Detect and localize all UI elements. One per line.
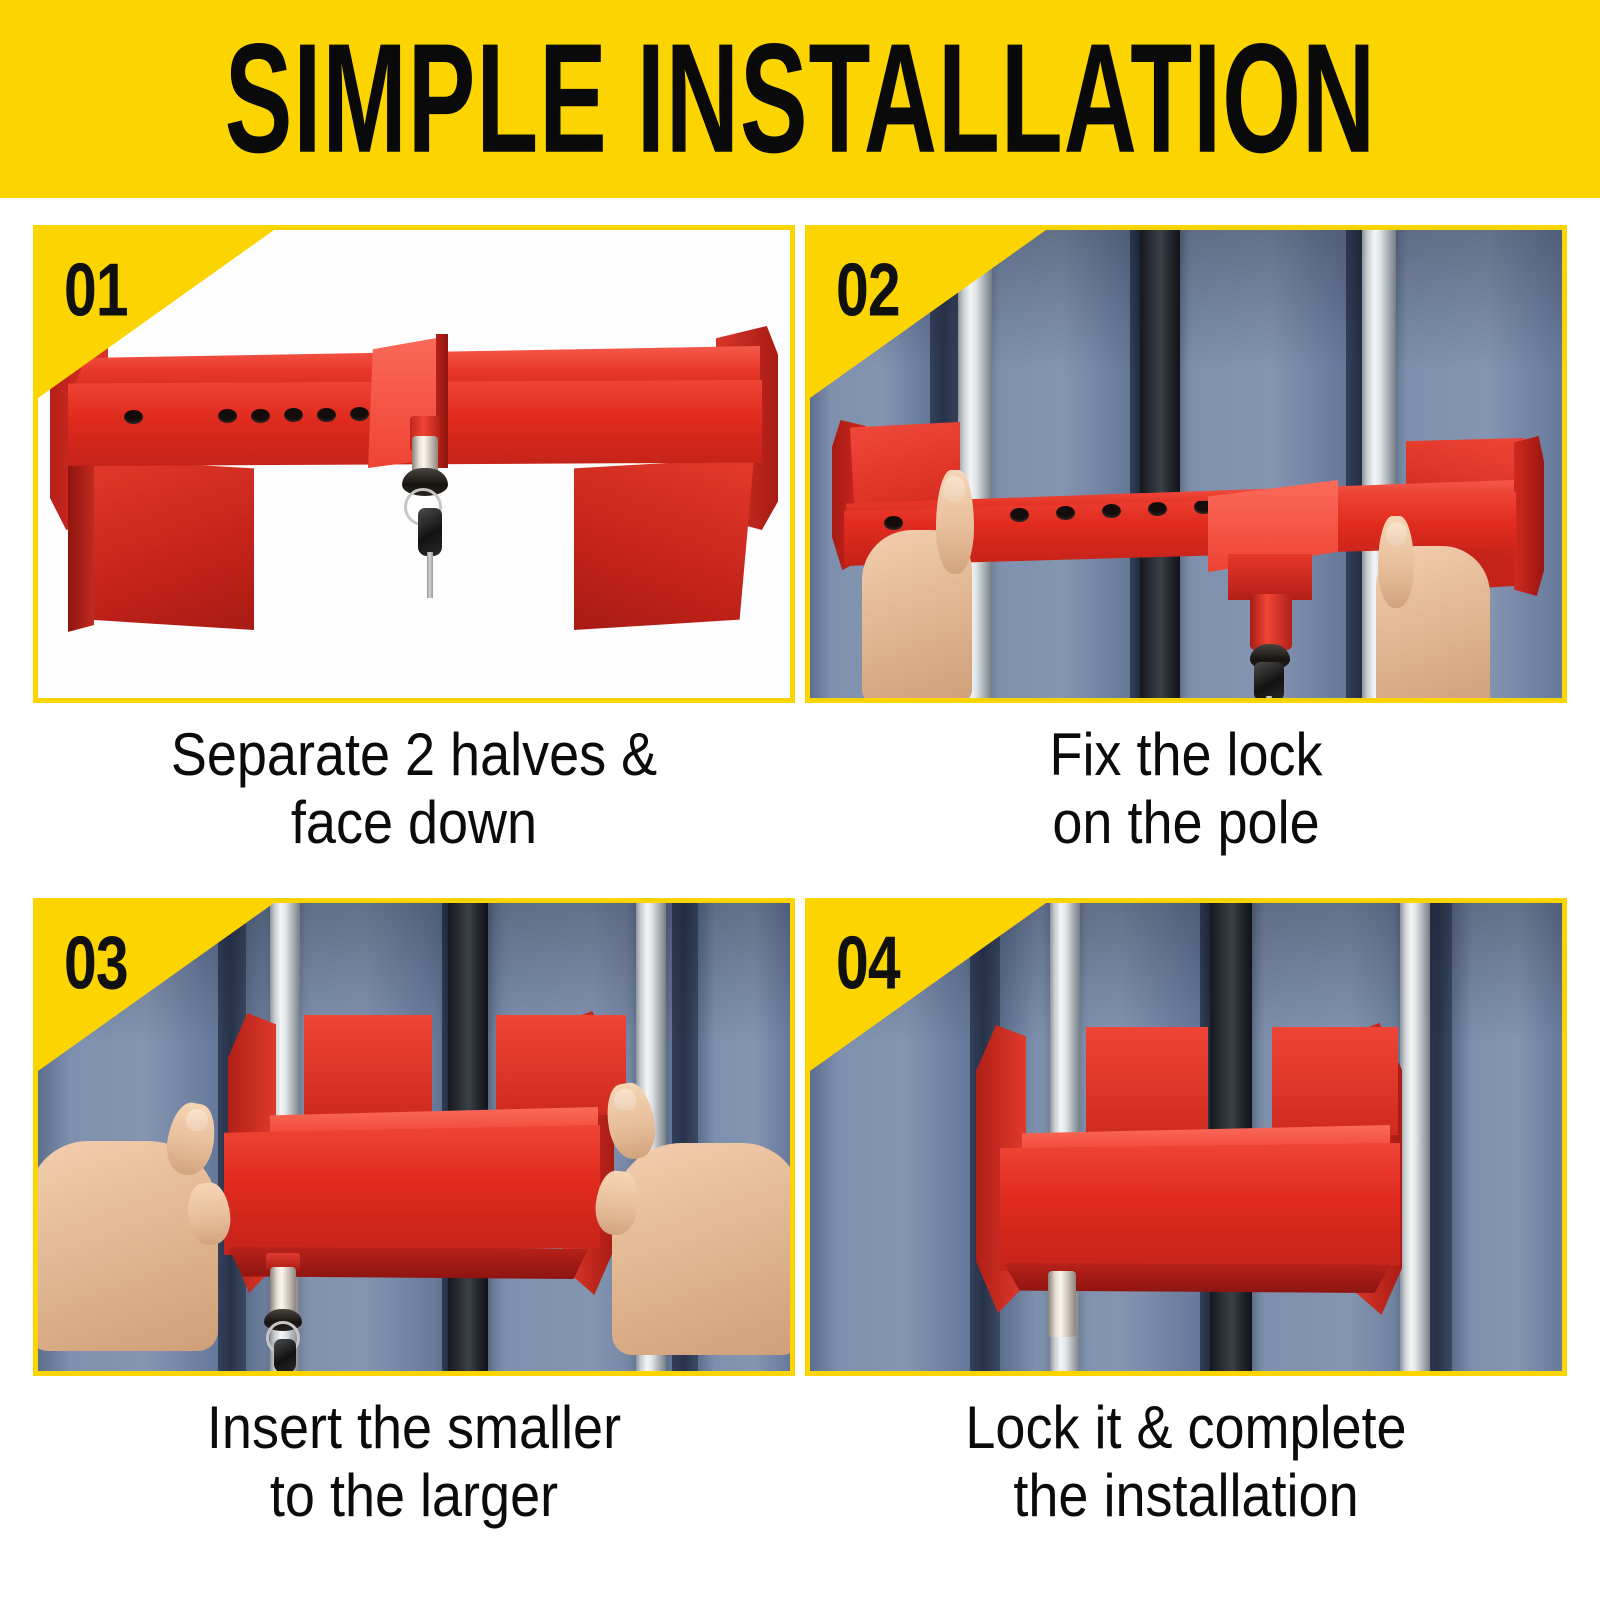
adjust-hole [251,409,270,423]
back-plate-right [1272,1027,1398,1135]
caption-line: Fix the lock [843,721,1529,789]
lock-cylinder-installed [1048,1271,1076,1337]
right-palm [612,1143,790,1355]
right-fingernail [614,1089,636,1111]
back-plate-left [1086,1027,1208,1135]
step-caption-01: Separate 2 halves & face down [71,721,757,857]
door-top-shadow [810,903,1562,1043]
adjust-hole [284,408,303,422]
step-card-03: 03 Insert the smaller to the larger [33,898,795,1530]
key-blade [1266,696,1272,698]
key-head [274,1339,296,1371]
pole-chrome-right [1400,903,1430,1371]
step-card-01: 01 Separate 2 halves & face down [33,225,795,857]
steps-grid: 01 Separate 2 halves & face down [0,198,1600,1600]
scene-garage-door-03 [38,903,790,1371]
scene-garage-door-02 [810,230,1562,698]
adjust-hole [1148,502,1167,516]
back-plate-left [304,1015,432,1115]
right-end-wing [1514,436,1544,596]
back-plate-right [496,1015,626,1115]
step-caption-04: Lock it & complete the installation [843,1394,1529,1530]
caption-line: the installation [843,1462,1529,1530]
caption-line: to the larger [71,1462,757,1530]
scene-studio-white [38,230,790,698]
key-head [1254,662,1284,698]
key-blade [427,552,433,598]
adjust-hole [317,408,336,422]
header-banner: SIMPLE INSTALLATION [0,0,1600,198]
adjust-hole [218,409,237,423]
step-card-02: 02 Fix the lock on the pole [805,225,1567,857]
door-top-shadow [810,230,1562,370]
key-head [418,508,442,556]
left-tray-edge [68,456,94,632]
adjust-hole [1010,508,1029,522]
step-caption-02: Fix the lock on the pole [843,721,1529,857]
caption-line: Lock it & complete [843,1394,1529,1462]
bracket-front-face [224,1125,600,1255]
step-card-04: 04 Lock it & complete the installation [805,898,1567,1530]
adjust-hole [1102,504,1121,518]
infographic-page: SIMPLE INSTALLATION [0,0,1600,1600]
adjust-hole [884,516,903,530]
left-fingernail [943,476,965,502]
caption-line: Insert the smaller [71,1394,757,1462]
page-title: SIMPLE INSTALLATION [224,21,1375,177]
caption-line: face down [71,789,757,857]
step-caption-03: Insert the smaller to the larger [71,1394,757,1530]
bracket-front-face [1000,1143,1400,1271]
right-tray [574,458,754,630]
left-fingernail [186,1109,208,1131]
left-tray [74,458,254,630]
pole-dark-center [1140,230,1180,698]
step-photo-04: 04 [805,898,1567,1376]
caption-line: Separate 2 halves & [71,721,757,789]
lock-cylinder [270,1267,296,1315]
adjust-hole [124,410,143,424]
step-photo-01: 01 [33,225,795,703]
adjust-hole [350,407,369,421]
caption-line: on the pole [843,789,1529,857]
right-fingernail [1386,522,1407,546]
step-photo-02: 02 [805,225,1567,703]
step-photo-03: 03 [33,898,795,1376]
scene-garage-door-04 [810,903,1562,1371]
adjust-hole [1056,506,1075,520]
lock-cylinder-shroud [1250,594,1292,650]
